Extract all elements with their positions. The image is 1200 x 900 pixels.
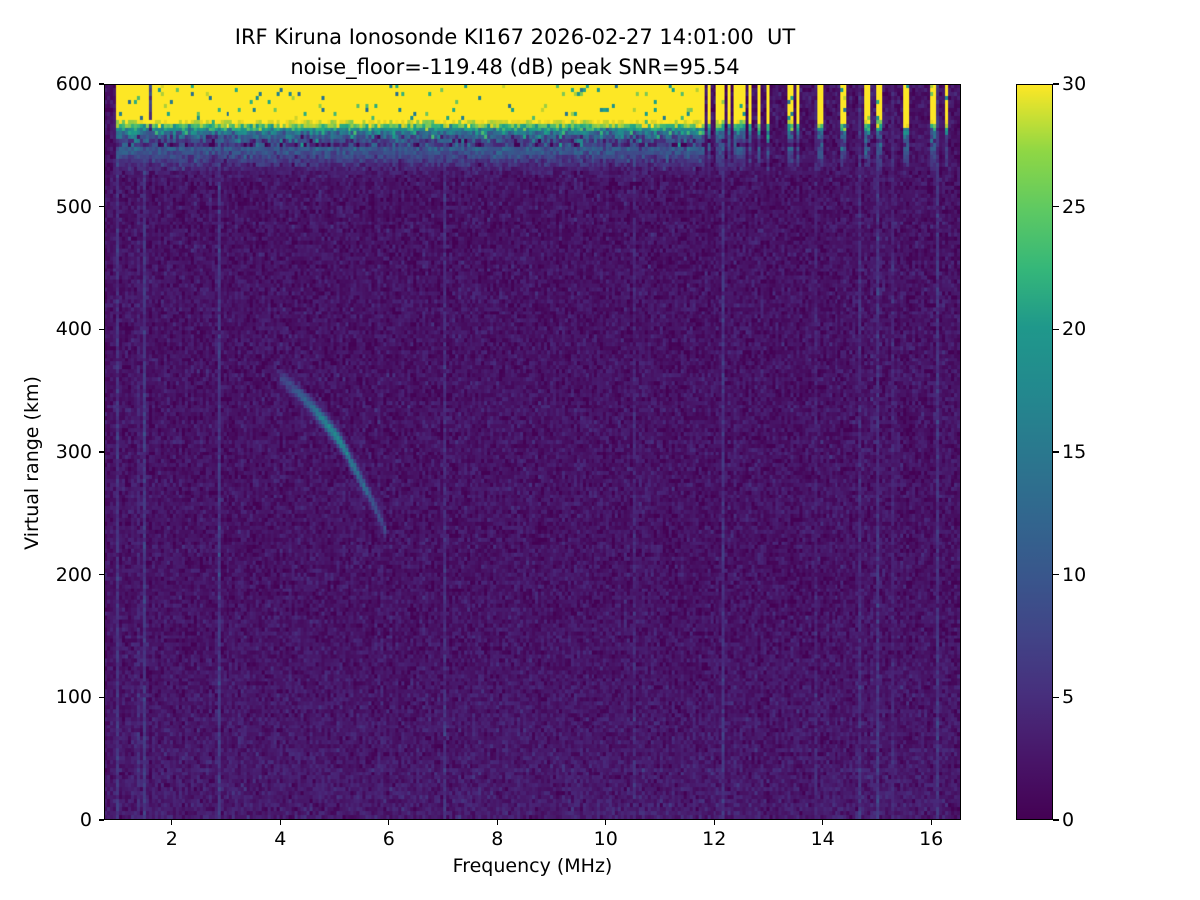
colorbar-tick-label: 30 [1062,73,1086,95]
y-tick-mark [99,697,104,698]
x-tick-mark [822,820,823,825]
y-axis-label: Virtual range (km) [21,353,43,573]
colorbar-tick-mark [1053,329,1059,330]
chart-title: IRF Kiruna Ionosonde KI167 2026-02-27 14… [0,22,1030,82]
x-tick-mark [605,820,606,825]
x-tick-label: 16 [919,828,943,850]
colorbar-tick-label: 25 [1062,196,1086,218]
x-tick-label: 14 [811,828,835,850]
x-axis-label: Frequency (MHz) [104,855,961,877]
colorbar-tick-mark [1053,697,1059,698]
colorbar-tick-label: 15 [1062,441,1086,463]
x-tick-mark [714,820,715,825]
x-tick-label: 2 [166,828,178,850]
y-tick-mark [99,83,104,84]
x-tick-label: 4 [274,828,286,850]
y-tick-mark [99,451,104,452]
ionogram-plot-area [104,84,961,820]
colorbar-tick-mark [1053,206,1059,207]
y-tick-label: 300 [0,441,92,463]
x-tick-label: 8 [491,828,503,850]
colorbar-tick-mark [1053,83,1059,84]
x-tick-mark [497,820,498,825]
y-tick-label: 100 [0,686,92,708]
y-tick-mark [99,819,104,820]
y-tick-mark [99,329,104,330]
x-tick-mark [388,820,389,825]
x-tick-mark [171,820,172,825]
x-tick-label: 10 [594,828,618,850]
colorbar-tick-label: 10 [1062,564,1086,586]
ionogram-heatmap [105,85,960,819]
x-tick-mark [280,820,281,825]
y-tick-label: 200 [0,564,92,586]
x-tick-label: 12 [702,828,726,850]
colorbar-tick-label: 5 [1062,686,1074,708]
y-tick-label: 600 [0,73,92,95]
ionogram-figure: IRF Kiruna Ionosonde KI167 2026-02-27 14… [0,0,1200,900]
chart-title-line1: IRF Kiruna Ionosonde KI167 2026-02-27 14… [0,22,1030,52]
colorbar [1016,84,1053,820]
colorbar-tick-mark [1053,574,1059,575]
colorbar-tick-mark [1053,451,1059,452]
x-tick-mark [931,820,932,825]
colorbar-tick-mark [1053,819,1059,820]
y-tick-mark [99,206,104,207]
y-tick-label: 0 [0,809,92,831]
y-tick-label: 400 [0,318,92,340]
x-tick-label: 6 [383,828,395,850]
y-tick-mark [99,574,104,575]
colorbar-tick-label: 20 [1062,318,1086,340]
chart-title-line2: noise_floor=-119.48 (dB) peak SNR=95.54 [0,52,1030,82]
y-tick-label: 500 [0,196,92,218]
colorbar-tick-label: 0 [1062,809,1074,831]
